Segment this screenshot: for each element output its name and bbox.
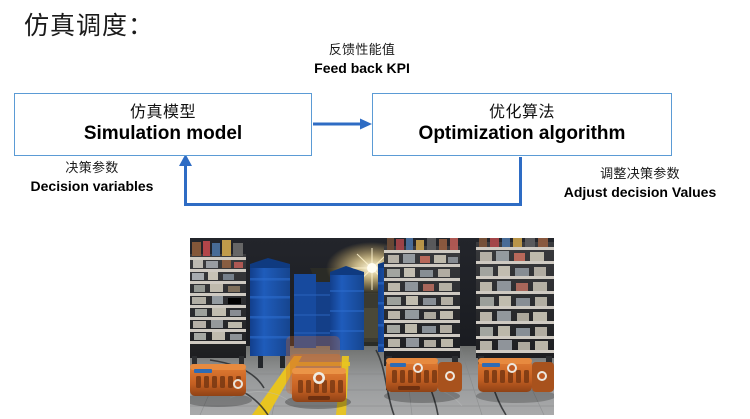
agv-robot-right [384, 358, 462, 403]
box-optimization-algorithm[interactable]: 优化算法 Optimization algorithm [372, 93, 672, 156]
label-feedback-kpi-en: Feed back KPI [272, 60, 452, 77]
label-feedback-kpi-cn: 反馈性能值 [272, 44, 452, 59]
box-optimization-algorithm-en: Optimization algorithm [419, 123, 626, 145]
agv-robot-left [190, 364, 252, 407]
slide-canvas: 仿真调度： 仿真模型 Simulation model 优化算法 Optimiz… [0, 0, 750, 419]
arrow-feedback-loop [179, 154, 521, 205]
box-simulation-model[interactable]: 仿真模型 Simulation model [14, 93, 312, 156]
page-title: 仿真调度： [24, 11, 154, 41]
label-adjust-decision-values-cn: 调整决策参数 [532, 168, 748, 183]
box-simulation-model-cn: 仿真模型 [130, 104, 196, 121]
label-decision-variables: 决策参数 Decision variables [2, 162, 182, 195]
label-feedback-kpi: 反馈性能值 Feed back KPI [272, 44, 452, 77]
label-adjust-decision-values-en: Adjust decision Values [532, 184, 748, 201]
agv-robot-far-right [476, 358, 554, 403]
box-simulation-model-en: Simulation model [84, 123, 242, 145]
warehouse-scene [190, 238, 554, 415]
warehouse-agv-photo [190, 238, 554, 415]
box-optimization-algorithm-cn: 优化算法 [489, 104, 555, 121]
label-decision-variables-en: Decision variables [2, 178, 182, 195]
label-decision-variables-cn: 决策参数 [2, 162, 182, 177]
rack-left-inner [250, 258, 290, 368]
arrow-forward-kpi [313, 119, 372, 130]
label-adjust-decision-values: 调整决策参数 Adjust decision Values [532, 168, 748, 201]
